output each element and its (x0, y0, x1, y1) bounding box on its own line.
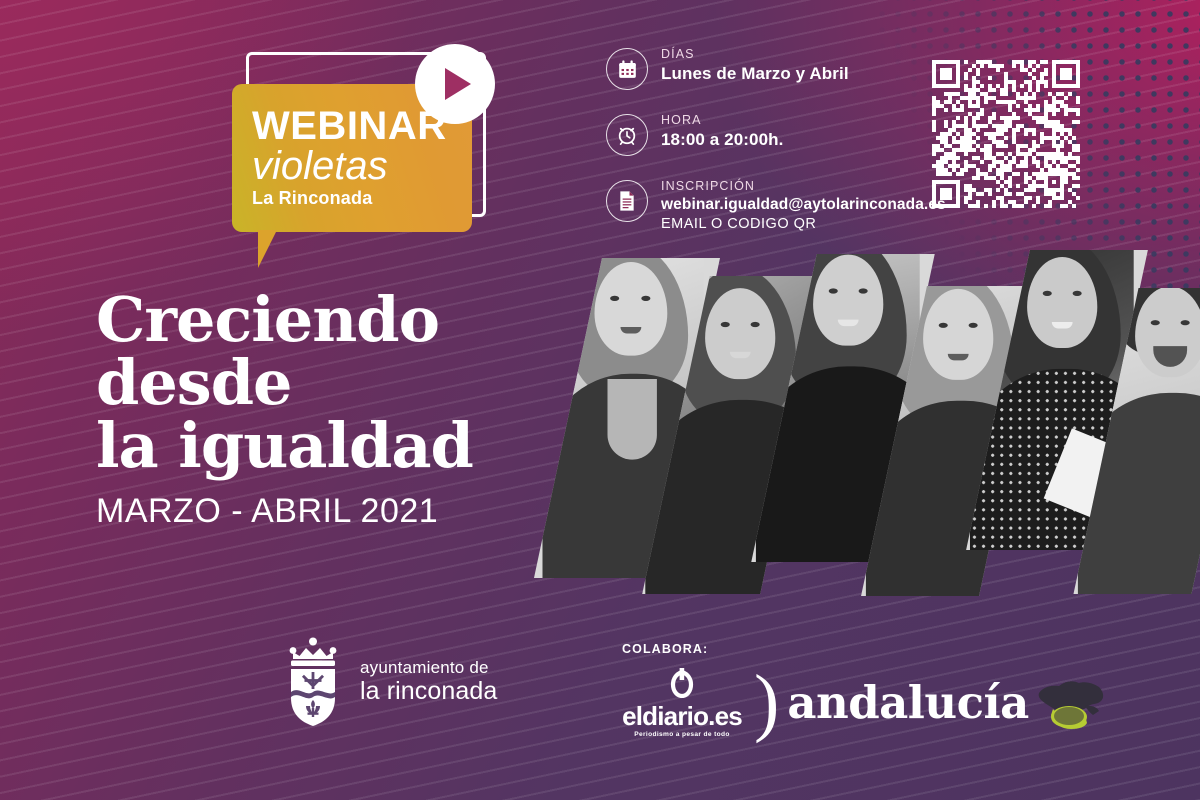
info-row-hora: HORA 18:00 a 20:00h. (606, 112, 926, 156)
logo-bubble-tail (258, 230, 277, 268)
speaker-photo-strip (528, 258, 1148, 588)
eldiario-name: eldiario.es (622, 704, 742, 729)
alarm-clock-icon (606, 114, 648, 156)
info-text-hora: HORA 18:00 a 20:00h. (661, 112, 783, 151)
info-label-inscripcion: INSCRIPCIÓN (661, 179, 946, 195)
info-row-inscripcion: INSCRIPCIÓN webinar.igualdad@aytolarinco… (606, 178, 926, 234)
webinar-logo: WEBINAR violetas La Rinconada (232, 52, 500, 252)
headline-line-3: la igualdad (96, 414, 566, 477)
play-icon[interactable] (415, 44, 495, 124)
coat-of-arms-icon (282, 636, 344, 728)
info-text-inscripcion: INSCRIPCIÓN webinar.igualdad@aytolarinco… (661, 178, 946, 234)
ayuntamiento-logo: ayuntamiento de la rinconada (282, 636, 497, 728)
poster-canvas: WEBINAR violetas La Rinconada Creciendo … (0, 0, 1200, 800)
headline-line-2: desde (96, 351, 566, 414)
colabora-block: COLABORA: eldiario.es Periodismo a pesar… (622, 642, 1107, 738)
headline-block: Creciendo desde la igualdad MARZO - ABRI… (96, 288, 566, 531)
logo-municipality-text: La Rinconada (252, 188, 472, 209)
ayuntamiento-line-1: ayuntamiento de (360, 659, 497, 677)
headline-line-1: Creciendo (96, 288, 566, 351)
info-value-email[interactable]: webinar.igualdad@aytolarinconada.es (661, 195, 946, 215)
event-info-list: DÍAS Lunes de Marzo y Abril HORA 18:00 a… (606, 46, 926, 256)
info-label-hora: HORA (661, 113, 783, 129)
info-value-dias: Lunes de Marzo y Abril (661, 63, 849, 85)
colabora-label: COLABORA: (622, 642, 1107, 656)
ayuntamiento-line-2: la rinconada (360, 678, 497, 705)
logo-violetas-text: violetas (252, 146, 472, 186)
andalucia-name: andalucía (787, 680, 1028, 725)
info-text-dias: DÍAS Lunes de Marzo y Abril (661, 46, 849, 85)
qr-code[interactable] (932, 60, 1080, 208)
eldiario-tagline: Periodismo a pesar de todo (622, 731, 742, 738)
event-dates: MARZO - ABRIL 2021 (96, 492, 566, 531)
info-sub-inscripcion: EMAIL O CODIGO QR (661, 215, 946, 235)
eldiario-mark-icon (669, 668, 695, 698)
calendar-icon (606, 48, 648, 90)
document-icon (606, 180, 648, 222)
info-label-dias: DÍAS (661, 47, 849, 63)
ayuntamiento-text: ayuntamiento de la rinconada (360, 659, 497, 705)
spain-map-icon (1033, 675, 1107, 731)
play-triangle (445, 68, 471, 100)
colabora-logos: eldiario.es Periodismo a pesar de todo )… (622, 668, 1107, 738)
eldiario-logo[interactable]: eldiario.es Periodismo a pesar de todo (622, 668, 742, 738)
logo-separator: ) (754, 680, 779, 726)
info-value-hora: 18:00 a 20:00h. (661, 129, 783, 151)
info-row-dias: DÍAS Lunes de Marzo y Abril (606, 46, 926, 90)
